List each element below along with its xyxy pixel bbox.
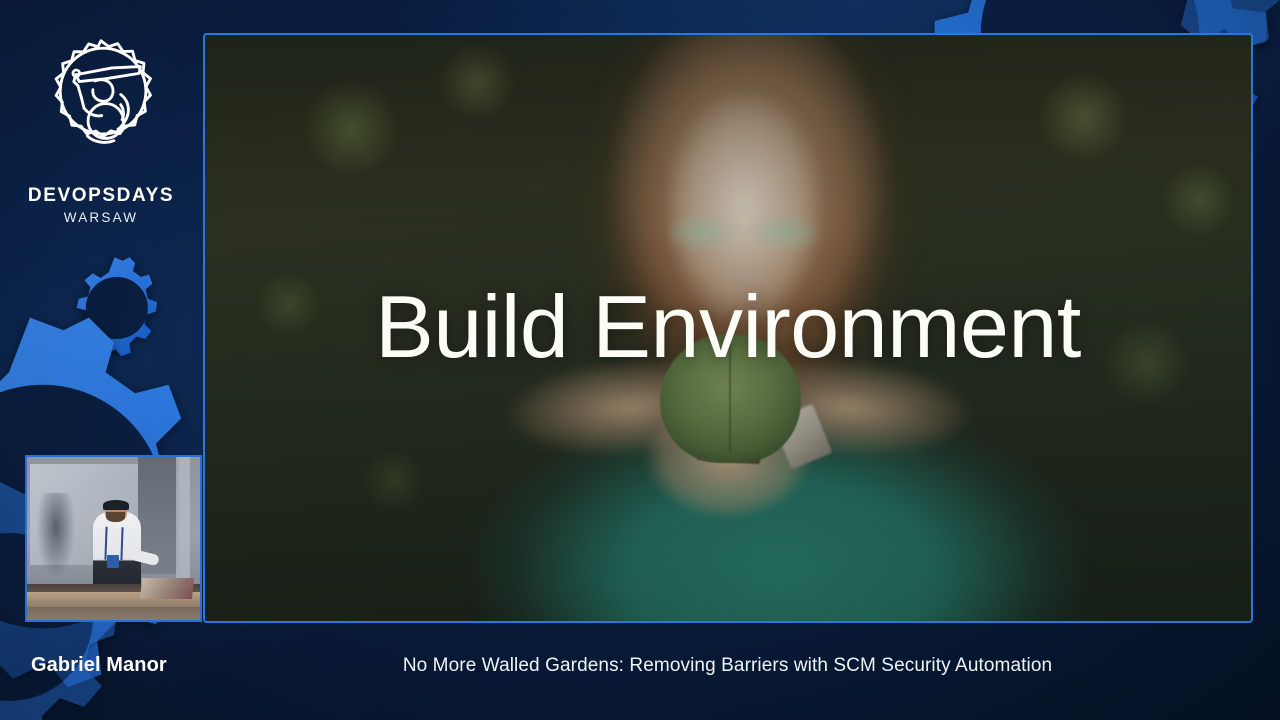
lower-third-bar: Gabriel Manor No More Walled Gardens: Re…: [0, 624, 1280, 720]
slide-frame[interactable]: Build Environment: [203, 33, 1253, 623]
camera-speaker-beard: [106, 512, 125, 522]
devopsdays-gear-logo-icon: [33, 36, 169, 172]
talk-title: No More Walled Gardens: Removing Barrier…: [203, 655, 1252, 677]
brand-block: DEVOPSDAYS WARSAW: [0, 36, 202, 225]
speaker-name: Gabriel Manor: [31, 654, 167, 677]
camera-speaker-badge: [107, 555, 119, 568]
camera-door-frame: [176, 457, 190, 584]
brand-city: WARSAW: [0, 210, 202, 225]
camera-speaker-cap: [103, 500, 129, 510]
slide-title: Build Environment: [205, 283, 1251, 371]
brand-title: DEVOPSDAYS: [0, 186, 202, 207]
camera-wall-shadow: [37, 493, 75, 578]
presentation-stage: DEVOPSDAYS WARSAW: [0, 0, 1280, 720]
left-sidebar: DEVOPSDAYS WARSAW: [0, 0, 202, 720]
camera-scene: [27, 457, 200, 620]
camera-laptop: [140, 578, 194, 599]
speaker-camera-feed[interactable]: [25, 455, 202, 622]
